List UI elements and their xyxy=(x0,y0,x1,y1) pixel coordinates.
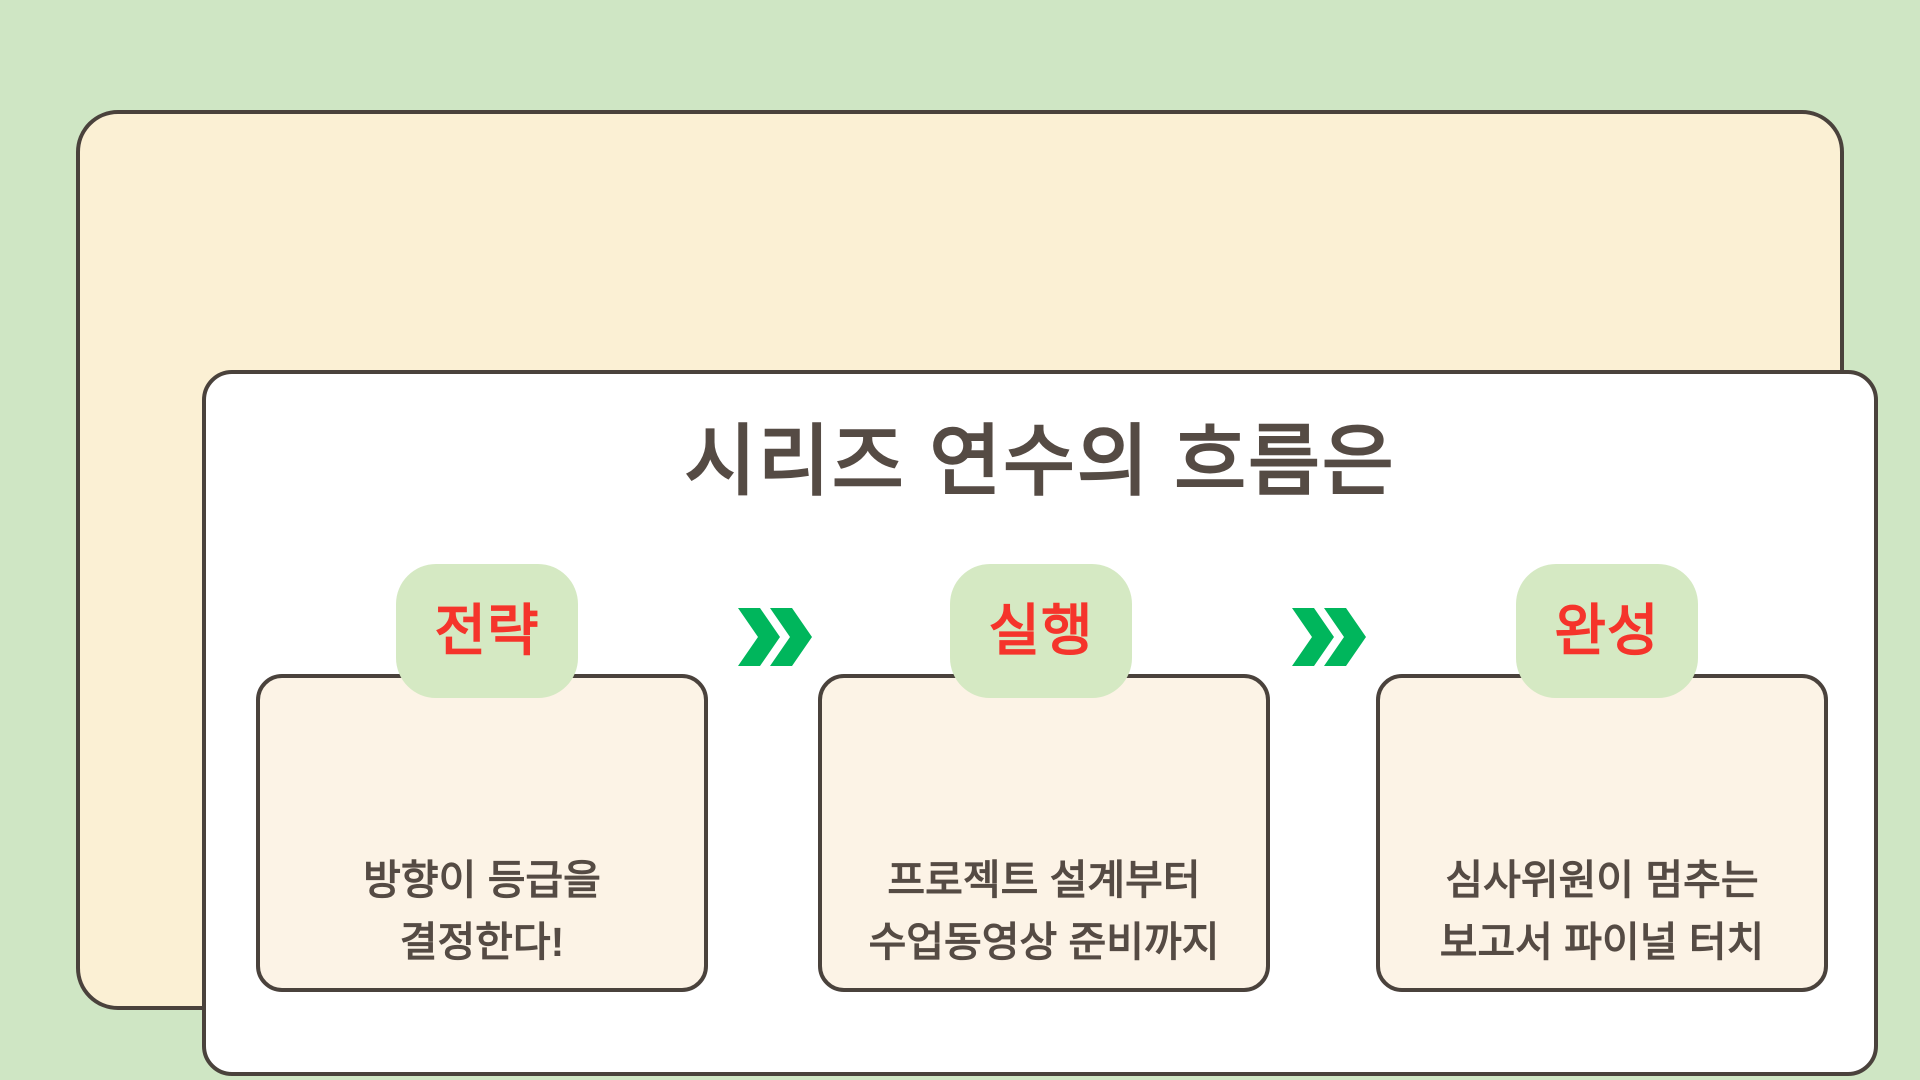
step-card-1[interactable]: 방향이 등급을 결정한다! xyxy=(256,674,708,992)
step-badge-2[interactable]: 실행 xyxy=(950,564,1132,698)
step-badge-3[interactable]: 완성 xyxy=(1516,564,1698,698)
step-badge-3-label: 완성 xyxy=(1554,603,1659,659)
outer-frame: 시리즈 연수의 흐름은 방향이 등급을 결정한다! 전략 xyxy=(76,110,1844,1010)
step-body-2: 프로젝트 설계부터 수업동영상 준비까지 xyxy=(822,850,1266,973)
flow-step-2: 프로젝트 설계부터 수업동영상 준비까지 실행 xyxy=(818,564,1270,1034)
step-body-1: 방향이 등급을 결정한다! xyxy=(260,850,704,973)
step-3-line-2: 보고서 파이널 터치 xyxy=(1380,912,1824,974)
double-chevron-right-icon xyxy=(736,604,814,670)
step-badge-1-label: 전략 xyxy=(434,603,539,659)
slide-canvas: 시리즈 연수의 흐름은 방향이 등급을 결정한다! 전략 xyxy=(0,0,1920,1080)
step-badge-1[interactable]: 전략 xyxy=(396,564,578,698)
flow-steps-row: 방향이 등급을 결정한다! 전략 xyxy=(226,564,1862,1034)
inner-panel: 시리즈 연수의 흐름은 방향이 등급을 결정한다! 전략 xyxy=(202,370,1878,1076)
double-chevron-right-icon-2 xyxy=(1290,604,1368,670)
step-card-2[interactable]: 프로젝트 설계부터 수업동영상 준비까지 xyxy=(818,674,1270,992)
step-3-line-1: 심사위원이 멈추는 xyxy=(1380,850,1824,912)
step-body-3: 심사위원이 멈추는 보고서 파이널 터치 xyxy=(1380,850,1824,973)
page-title: 시리즈 연수의 흐름은 xyxy=(206,422,1874,500)
step-2-line-1: 프로젝트 설계부터 xyxy=(822,850,1266,912)
flow-step-1: 방향이 등급을 결정한다! 전략 xyxy=(256,564,708,1034)
step-1-line-1: 방향이 등급을 xyxy=(260,850,704,912)
flow-step-3: 심사위원이 멈추는 보고서 파이널 터치 완성 xyxy=(1376,564,1828,1034)
step-card-3[interactable]: 심사위원이 멈추는 보고서 파이널 터치 xyxy=(1376,674,1828,992)
step-2-line-2: 수업동영상 준비까지 xyxy=(822,912,1266,974)
step-badge-2-label: 실행 xyxy=(988,603,1093,659)
step-1-line-2: 결정한다! xyxy=(260,912,704,974)
